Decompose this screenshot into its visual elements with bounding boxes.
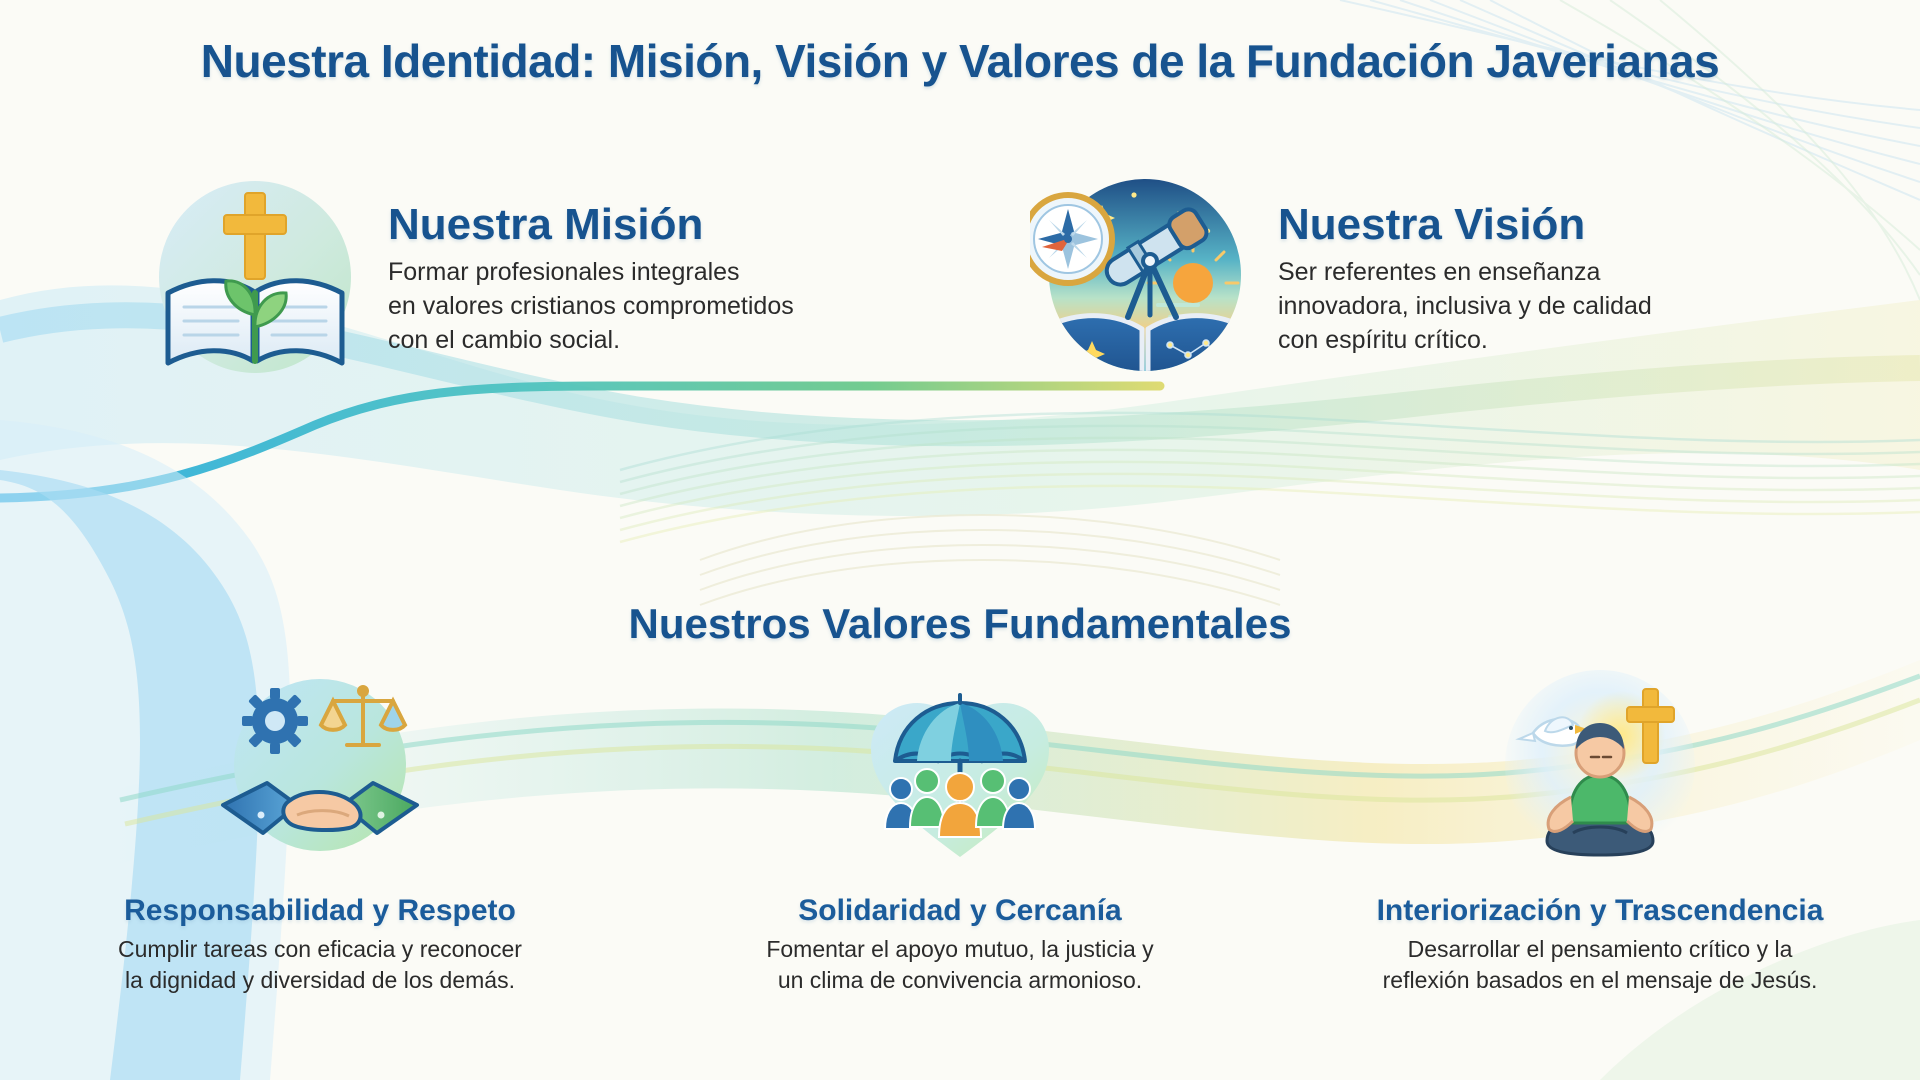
mission-block: Nuestra Misión Formar profesionales inte… [140, 165, 794, 395]
value-card-responsabilidad: Responsabilidad y Respeto Cumplir tareas… [0, 665, 640, 996]
infographic-page: Nuestra Identidad: Misión, Visión y Valo… [0, 0, 1920, 1080]
value-desc-2-line-2: un clima de convivencia armonioso. [766, 965, 1153, 996]
value-desc-2: Fomentar el apoyo mutuo, la justicia y u… [766, 934, 1153, 996]
value-desc-1-line-2: la dignidad y diversidad de los demás. [118, 965, 522, 996]
meditating-person-dove-cross-icon [1493, 665, 1708, 880]
vision-line-3: con espíritu crítico. [1278, 324, 1652, 358]
mission-line-1: Formar profesionales integrales [388, 256, 794, 290]
vision-body: Ser referentes en enseñanza innovadora, … [1278, 256, 1652, 357]
value-desc-1-line-1: Cumplir tareas con eficacia y reconocer [118, 934, 522, 965]
mission-line-2: en valores cristianos comprometidos [388, 290, 794, 324]
page-title: Nuestra Identidad: Misión, Visión y Valo… [0, 34, 1920, 88]
value-desc-3: Desarrollar el pensamiento crítico y la … [1383, 934, 1818, 996]
compass-telescope-book-icon [1030, 165, 1260, 395]
vision-heading: Nuestra Visión [1278, 202, 1652, 248]
vision-block: Nuestra Visión Ser referentes en enseñan… [1030, 165, 1652, 395]
mission-heading: Nuestra Misión [388, 202, 794, 248]
open-book-cross-sprout-icon [140, 165, 370, 395]
mission-line-3: con el cambio social. [388, 324, 794, 358]
value-card-solidaridad: Solidaridad y Cercanía Fomentar el apoyo… [640, 665, 1280, 996]
umbrella-people-heart-icon [853, 665, 1068, 880]
value-title-1: Responsabilidad y Respeto [124, 894, 516, 928]
mission-vision-row: Nuestra Misión Formar profesionales inte… [0, 165, 1920, 435]
vision-line-1: Ser referentes en enseñanza [1278, 256, 1652, 290]
value-card-interiorizacion: Interiorización y Trascendencia Desarrol… [1280, 665, 1920, 996]
value-desc-3-line-1: Desarrollar el pensamiento crítico y la [1383, 934, 1818, 965]
value-desc-1: Cumplir tareas con eficacia y reconocer … [118, 934, 522, 996]
vision-line-2: innovadora, inclusiva y de calidad [1278, 290, 1652, 324]
value-desc-3-line-2: reflexión basados en el mensaje de Jesús… [1383, 965, 1818, 996]
vision-text: Nuestra Visión Ser referentes en enseñan… [1278, 202, 1652, 357]
mission-body: Formar profesionales integrales en valor… [388, 256, 794, 357]
values-heading: Nuestros Valores Fundamentales [0, 600, 1920, 648]
value-title-3: Interiorización y Trascendencia [1377, 894, 1824, 928]
value-title-2: Solidaridad y Cercanía [798, 894, 1121, 928]
values-row: Responsabilidad y Respeto Cumplir tareas… [0, 665, 1920, 996]
mission-text: Nuestra Misión Formar profesionales inte… [388, 202, 794, 357]
handshake-gear-scales-icon [213, 665, 428, 880]
value-desc-2-line-1: Fomentar el apoyo mutuo, la justicia y [766, 934, 1153, 965]
